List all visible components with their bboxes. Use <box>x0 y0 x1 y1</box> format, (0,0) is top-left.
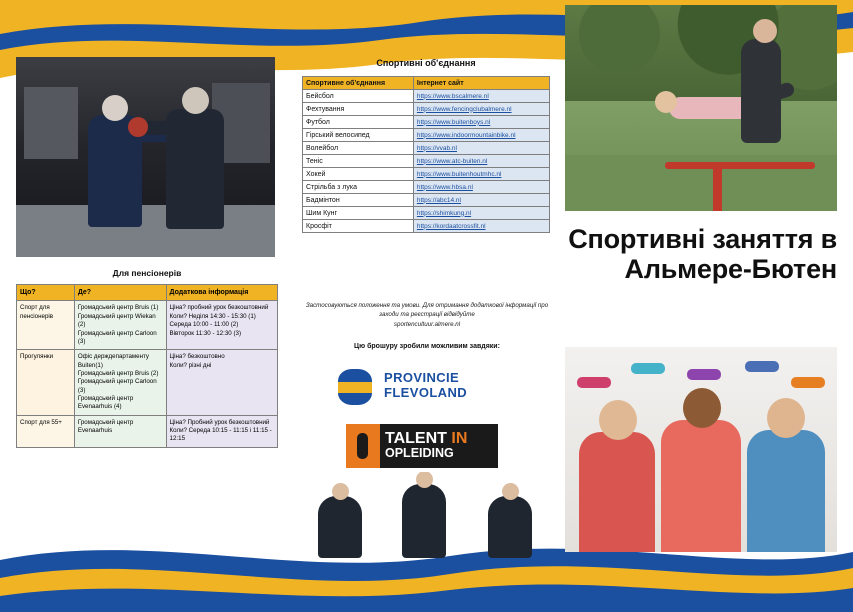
logo-talent-in-opleiding: TALENT IN OPLEIDING <box>346 424 498 468</box>
terms-text: Застосовуються положення та умови. Для о… <box>306 302 548 318</box>
column-header-what: Що? <box>17 285 75 301</box>
sport-name: Гірський велосипед <box>303 129 414 142</box>
sport-link-cell[interactable]: https://www.hbsa.nl <box>413 181 549 194</box>
sport-link-cell[interactable]: https://www.fencingclubalmere.nl <box>413 103 549 116</box>
sport-link-cell[interactable]: https://www.atc-buiten.nl <box>413 155 549 168</box>
sport-link-cell[interactable]: https://www.bscalmere.nl <box>413 90 549 103</box>
table-row: Тенісhttps://www.atc-buiten.nl <box>303 155 550 168</box>
opleiding-word: OPLEIDING <box>385 447 498 460</box>
table-header-row: Що? Де? Додаткова інформація <box>17 285 278 301</box>
table-row: Футболhttps://www.buitenboys.nl <box>303 116 550 129</box>
photo-outdoor-training <box>565 5 837 211</box>
table-header-row: Спортивне об'єднання Інтернет сайт <box>303 77 550 90</box>
sponsors-caption: Цю брошуру зробили можливим завдяки: <box>302 343 552 350</box>
sport-link-cell[interactable]: https://www.buitenhoutmhc.nl <box>413 168 549 181</box>
table-row: Фехтуванняhttps://www.fencingclubalmere.… <box>303 103 550 116</box>
sports-associations-section: Спортивні об'єднання Спортивне об'єднанн… <box>302 58 550 233</box>
sport-link-cell[interactable]: https://kordaatcrossfit.nl <box>413 220 549 233</box>
table-row: Шим Кунгhttps://shimkung.nl <box>303 207 550 220</box>
pensioners-table: Що? Де? Додаткова інформація Спорт для п… <box>16 284 278 448</box>
activity-info: Ціна? Пробний урок безкоштовний Коли? Се… <box>166 415 277 447</box>
flevoland-line2: FLEVOLAND <box>384 386 467 401</box>
activity-where: Громадський центр Evenaarhuis <box>74 415 166 447</box>
table-row: Стрільба з лукаhttps://www.hbsa.nl <box>303 181 550 194</box>
activity-where: Громадський центр Bruis (1) Громадський … <box>74 301 166 350</box>
sport-name: Волейбол <box>303 142 414 155</box>
sport-link[interactable]: https://www.bscalmere.nl <box>417 93 489 100</box>
activity-what: Спорт для пенсіонерів <box>17 301 75 350</box>
activity-what: Прогулянки <box>17 350 75 416</box>
page-title: Спортивні заняття в Альмере-Бютен <box>561 224 837 284</box>
table-row: Волейболhttps://vvab.nl <box>303 142 550 155</box>
table-row: Бадмінтонhttps://abc14.nl <box>303 194 550 207</box>
sport-name: Шим Кунг <box>303 207 414 220</box>
sports-associations-table: Спортивне об'єднання Інтернет сайт Бейсб… <box>302 76 550 233</box>
activity-info: Ціна? пробний урок безкоштовний Коли? Не… <box>166 301 277 350</box>
runner-icon <box>346 424 380 468</box>
sport-link[interactable]: https://kordaatcrossfit.nl <box>417 223 486 230</box>
sport-name: Теніс <box>303 155 414 168</box>
flevoland-wordmark: PROVINCIE FLEVOLAND <box>384 371 467 401</box>
column-header-where: Де? <box>74 285 166 301</box>
sport-link[interactable]: https://www.buitenboys.nl <box>417 119 490 126</box>
activity-where: Офіс держдепартаменту Buiten(1) Громадсь… <box>74 350 166 416</box>
column-header-website: Інтернет сайт <box>413 77 549 90</box>
table-row: Спорт для пенсіонерів Громадський центр … <box>17 301 278 350</box>
column-header-association: Спортивне об'єднання <box>303 77 414 90</box>
sport-name: Стрільба з лука <box>303 181 414 194</box>
sport-link[interactable]: https://www.atc-buiten.nl <box>417 158 487 165</box>
photo-taichi-group <box>318 472 550 558</box>
sport-link[interactable]: https://www.buitenhoutmhc.nl <box>417 171 502 178</box>
sport-name: Бадмінтон <box>303 194 414 207</box>
talent-in-word: IN <box>451 430 467 447</box>
photo-kids-dumbbells <box>565 347 837 552</box>
activity-info: Ціна? безкоштовно Коли? різні дні <box>166 350 277 416</box>
table-row: Кросфітhttps://kordaatcrossfit.nl <box>303 220 550 233</box>
table-row: Гірський велосипедhttps://www.indoormoun… <box>303 129 550 142</box>
table-row: Хокейhttps://www.buitenhoutmhc.nl <box>303 168 550 181</box>
flevoland-mark-icon <box>336 365 376 407</box>
sport-name: Кросфіт <box>303 220 414 233</box>
sport-link-cell[interactable]: https://www.buitenboys.nl <box>413 116 549 129</box>
terms-and-conditions: Застосовуються положення та умови. Для о… <box>302 301 552 329</box>
pensioners-section-title: Для пенсіонерів <box>16 268 278 278</box>
sport-name: Хокей <box>303 168 414 181</box>
table-row: Спорт для 55+ Громадський центр Evenaarh… <box>17 415 278 447</box>
table-row: Прогулянки Офіс держдепартаменту Buiten(… <box>17 350 278 416</box>
sport-link[interactable]: https://shimkung.nl <box>417 210 471 217</box>
sport-name: Фехтування <box>303 103 414 116</box>
sport-link[interactable]: https://abc14.nl <box>417 197 461 204</box>
sport-link[interactable]: https://www.fencingclubalmere.nl <box>417 106 512 113</box>
column-header-info: Додаткова інформація <box>166 285 277 301</box>
talent-word: TALENT <box>385 430 447 447</box>
table-row: Бейсболhttps://www.bscalmere.nl <box>303 90 550 103</box>
sport-name: Футбол <box>303 116 414 129</box>
pensioners-section: Для пенсіонерів Що? Де? Додаткова інформ… <box>16 268 278 448</box>
sport-name: Бейсбол <box>303 90 414 103</box>
logo-provincie-flevoland: PROVINCIE FLEVOLAND <box>336 362 520 410</box>
sport-link-cell[interactable]: https://abc14.nl <box>413 194 549 207</box>
sport-link-cell[interactable]: https://shimkung.nl <box>413 207 549 220</box>
sport-link-cell[interactable]: https://vvab.nl <box>413 142 549 155</box>
sport-link-cell[interactable]: https://www.indoormountainbike.nl <box>413 129 549 142</box>
terms-website: sportencultuur.almere.nl <box>302 320 552 329</box>
activity-what: Спорт для 55+ <box>17 415 75 447</box>
sport-link[interactable]: https://vvab.nl <box>417 145 457 152</box>
sport-link[interactable]: https://www.indoormountainbike.nl <box>417 132 516 139</box>
flevoland-line1: PROVINCIE <box>384 371 467 386</box>
sport-link[interactable]: https://www.hbsa.nl <box>417 184 473 191</box>
sports-section-title: Спортивні об'єднання <box>302 58 550 68</box>
photo-boxing-seniors <box>16 57 275 257</box>
